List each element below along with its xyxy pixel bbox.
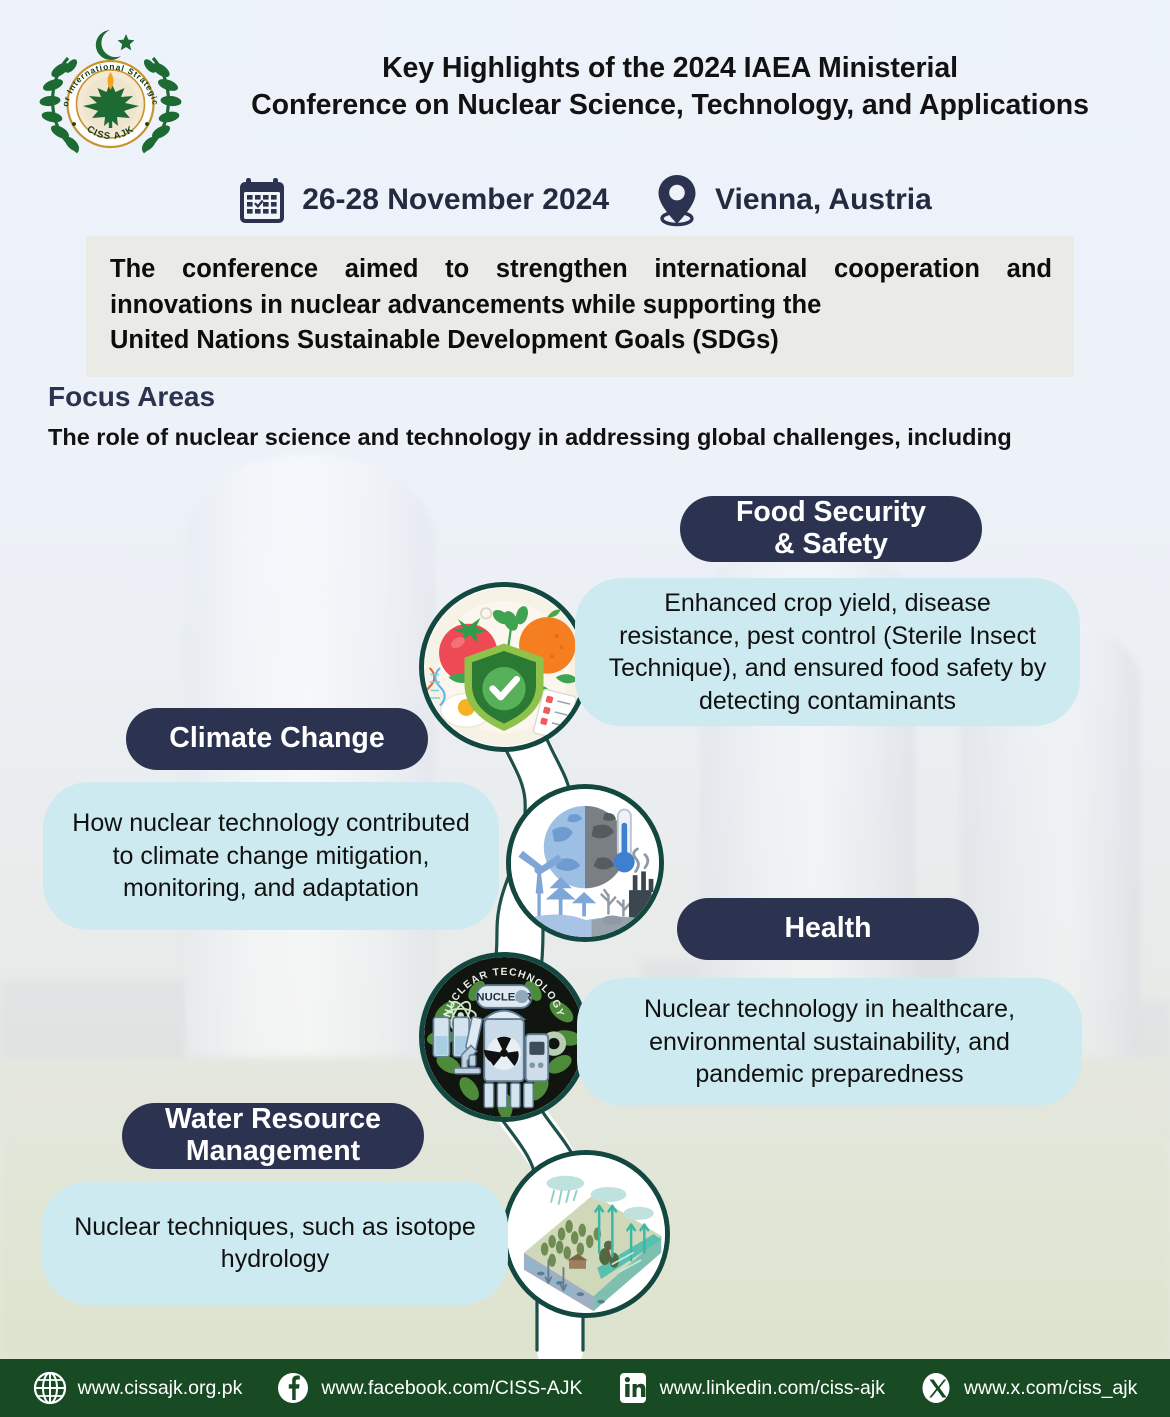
- footer-link-website[interactable]: www.cissajk.org.pk: [33, 1371, 243, 1405]
- pill-food-security-line2: & Safety: [774, 528, 888, 560]
- water-cycle-landscape-icon: [507, 1155, 665, 1313]
- node-circle-health: NUCLEAR: [419, 952, 589, 1122]
- node-circle-climate-change: [506, 784, 664, 942]
- nuclear-technology-lab-icon: NUCLEAR: [424, 957, 584, 1117]
- ciss-ajk-logo: Center for International Strategic Studi…: [38, 24, 183, 164]
- facebook-icon: [276, 1371, 310, 1405]
- focus-areas-subheading: The role of nuclear science and technolo…: [48, 424, 1012, 451]
- bubble-health: Nuclear technology in healthcare, enviro…: [577, 978, 1082, 1106]
- bubble-water-resource-text: Nuclear techniques, such as isotope hydr…: [68, 1211, 482, 1276]
- calendar-icon: [238, 175, 286, 225]
- bubble-water-resource: Nuclear techniques, such as isotope hydr…: [42, 1181, 508, 1305]
- title-line-1: Key Highlights of the 2024 IAEA Minister…: [220, 50, 1120, 87]
- footer-link-facebook-text: www.facebook.com/CISS-AJK: [321, 1377, 582, 1400]
- node-circle-water-resource: [502, 1150, 670, 1318]
- location-pin-icon: [655, 173, 699, 227]
- footer-social-bar: www.cissajk.org.pk www.facebook.com/CISS…: [0, 1359, 1170, 1417]
- page-title: Key Highlights of the 2024 IAEA Minister…: [220, 50, 1120, 124]
- aim-text-bold: United Nations Sustainable Development G…: [110, 323, 1052, 359]
- pill-health-label: Health: [784, 913, 871, 945]
- event-date-text: 26-28 November 2024: [302, 183, 609, 217]
- bubble-food-security: Enhanced crop yield, disease resistance,…: [575, 578, 1080, 726]
- globe-climate-icon: [511, 789, 659, 937]
- event-location: Vienna, Austria: [655, 173, 932, 227]
- linkedin-icon: [617, 1371, 649, 1405]
- event-meta: 26-28 November 2024 Vienna, Austria: [0, 168, 1170, 232]
- pill-climate-change: Climate Change: [126, 708, 428, 770]
- pill-water-resource: Water Resource Management: [122, 1103, 424, 1169]
- event-date: 26-28 November 2024: [238, 175, 609, 225]
- footer-link-x[interactable]: www.x.com/ciss_ajk: [919, 1371, 1137, 1405]
- focus-areas-heading: Focus Areas: [48, 381, 215, 413]
- conference-aim-box: The conference aimed to strengthen inter…: [86, 236, 1074, 377]
- footer-link-facebook[interactable]: www.facebook.com/CISS-AJK: [276, 1371, 582, 1405]
- footer-link-website-text: www.cissajk.org.pk: [78, 1377, 243, 1400]
- pill-climate-change-label: Climate Change: [169, 723, 384, 755]
- pill-water-resource-line2: Management: [186, 1135, 360, 1167]
- bubble-climate-change-text: How nuclear technology contributed to cl…: [69, 807, 473, 905]
- food-safety-shield-icon: [424, 587, 584, 747]
- pill-food-security: Food Security & Safety: [680, 496, 982, 562]
- infographic-poster: Center for International Strategic Studi…: [0, 0, 1170, 1417]
- footer-link-linkedin[interactable]: www.linkedin.com/ciss-ajk: [617, 1371, 885, 1405]
- x-twitter-icon: [919, 1371, 953, 1405]
- footer-link-x-text: www.x.com/ciss_ajk: [964, 1377, 1137, 1400]
- pill-health: Health: [677, 898, 979, 960]
- footer-link-linkedin-text: www.linkedin.com/ciss-ajk: [660, 1377, 885, 1400]
- bubble-climate-change: How nuclear technology contributed to cl…: [43, 782, 499, 930]
- aim-text: The conference aimed to strengthen inter…: [110, 255, 1052, 319]
- globe-icon: [33, 1371, 67, 1405]
- pill-water-resource-line1: Water Resource: [165, 1103, 381, 1135]
- bubble-health-text: Nuclear technology in healthcare, enviro…: [603, 993, 1056, 1091]
- pill-food-security-line1: Food Security: [736, 496, 926, 528]
- bubble-food-security-text: Enhanced crop yield, disease resistance,…: [601, 587, 1054, 717]
- title-line-2: Conference on Nuclear Science, Technolog…: [220, 87, 1120, 124]
- poster-header: Center for International Strategic Studi…: [0, 0, 1170, 150]
- node-circle-food-security: [419, 582, 589, 752]
- event-location-text: Vienna, Austria: [715, 183, 932, 217]
